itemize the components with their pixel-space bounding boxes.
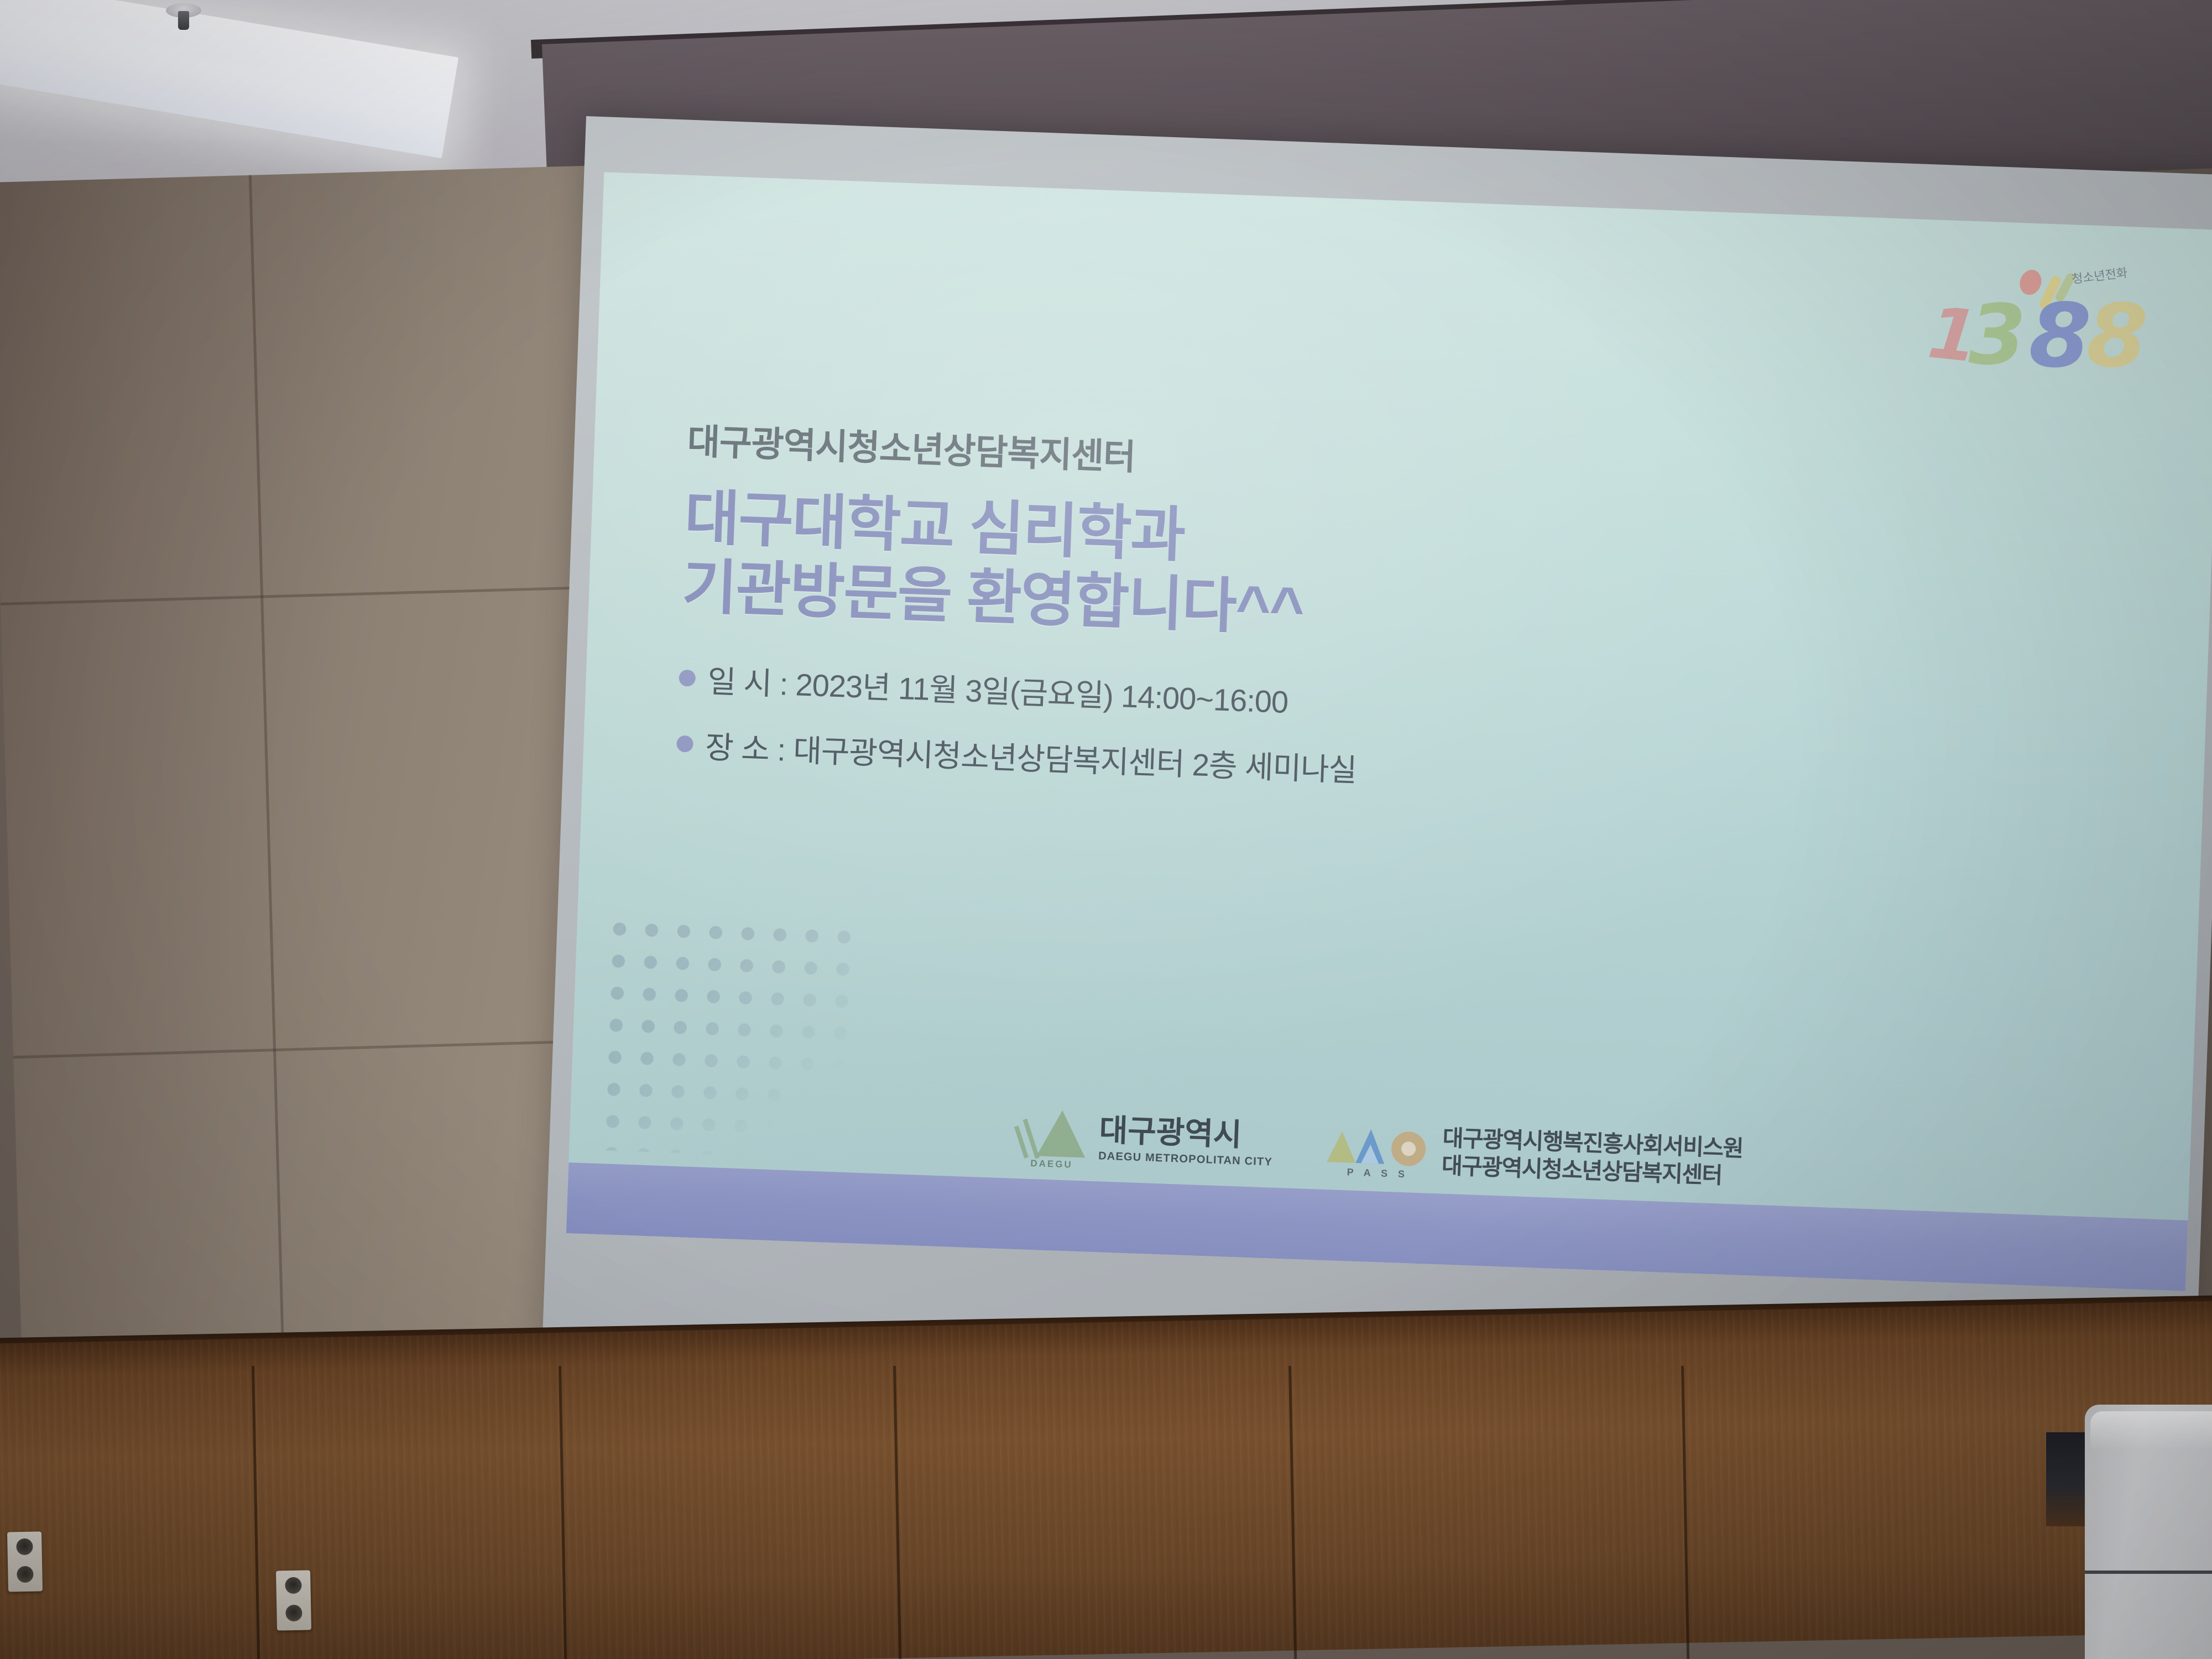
slide-bullet-location-text: 장 소 : 대구광역시청소년상담복지센터 2층 세미나실 [705, 722, 1358, 790]
slide-bullet-datetime-text: 일 시 : 2023년 11월 3일(금요일) 14:00~16:00 [707, 656, 1288, 722]
slide-headline-line-2: 기관방문을 환영합니다^^ [681, 553, 1305, 642]
outlet-socket-lower [285, 1605, 302, 1622]
appliance-seam [2085, 1571, 2212, 1574]
bullet-dot-icon [679, 670, 696, 687]
daegu-wordmark: 대구광역시 DAEGU METROPOLITAN CITY [1098, 1114, 1274, 1168]
pass-wordmark: 대구광역시행복진흥사회서비스원 대구광역시청소년상담복지센터 [1441, 1124, 1744, 1190]
bullet-dot-icon [676, 735, 693, 753]
daegu-name-english: DAEGU METROPOLITAN CITY [1098, 1150, 1273, 1168]
pass-center-logo: P A S S 대구광역시행복진흥사회서비스원 대구광역시청소년상담복지센터 [1325, 1119, 1744, 1191]
wall-seam-horizontal-upper [1, 585, 620, 605]
projection-screen: 1 3 8 8 청소년전화 대구광역시청소년상담복지센터 대구대학교 심리학과 … [540, 116, 2212, 1463]
appliance-highlight [2090, 1411, 2212, 1450]
daegu-mountain-icon: DAEGU [1016, 1105, 1089, 1168]
presentation-slide: 1 3 8 8 청소년전화 대구광역시청소년상담복지센터 대구대학교 심리학과 … [566, 172, 2212, 1291]
pass-chevron-blue-inner [1361, 1144, 1379, 1164]
logo-1388: 1 3 8 8 청소년전화 [1919, 254, 2161, 378]
daegu-mark-caption: DAEGU [1016, 1157, 1087, 1171]
power-outlet-right [276, 1570, 311, 1630]
sprinkler-head [178, 11, 189, 30]
daegu-city-logo: DAEGU 대구광역시 DAEGU METROPOLITAN CITY [1016, 1105, 1274, 1174]
slide-text-block: 대구광역시청소년상담복지센터 대구대학교 심리학과 기관방문을 환영합니다^^ … [675, 413, 1849, 828]
logo-1388-digit-8b: 8 [2085, 291, 2150, 381]
power-outlet-left [7, 1531, 43, 1592]
outlet-socket-upper [285, 1577, 302, 1594]
pass-chevron-green [1327, 1131, 1357, 1163]
slide-bullet-list: 일 시 : 2023년 11월 3일(금요일) 14:00~16:00 장 소 … [676, 655, 1840, 807]
pass-ring-icon [1391, 1131, 1426, 1166]
outlet-socket-upper [16, 1538, 33, 1556]
outlet-socket-lower [17, 1566, 34, 1583]
wall-seam-horizontal-lower [13, 1039, 633, 1058]
fire-sprinkler-icon [166, 3, 201, 31]
wood-panel-wall [0, 1301, 2212, 1659]
logo-1388-tagline: 청소년전화 [2070, 258, 2166, 287]
logo-1388-digit-3: 3 [1968, 294, 2026, 377]
slide-headline: 대구대학교 심리학과 기관방문을 환영합니다^^ [681, 483, 1846, 662]
daegu-triangle-shape [1036, 1109, 1087, 1157]
white-appliance-cabinet [2085, 1405, 2212, 1659]
daegu-name-korean: 대구광역시 [1099, 1114, 1274, 1151]
pass-chevron-icon: P A S S [1325, 1119, 1432, 1180]
wall-seam-vertical [249, 175, 287, 1447]
logo-1388-digit-8a: 8 [2028, 291, 2093, 382]
photo-scene: 1 3 8 8 청소년전화 대구광역시청소년상담복지센터 대구대학교 심리학과 … [0, 0, 2212, 1659]
pass-mark-caption: P A S S [1325, 1166, 1431, 1181]
